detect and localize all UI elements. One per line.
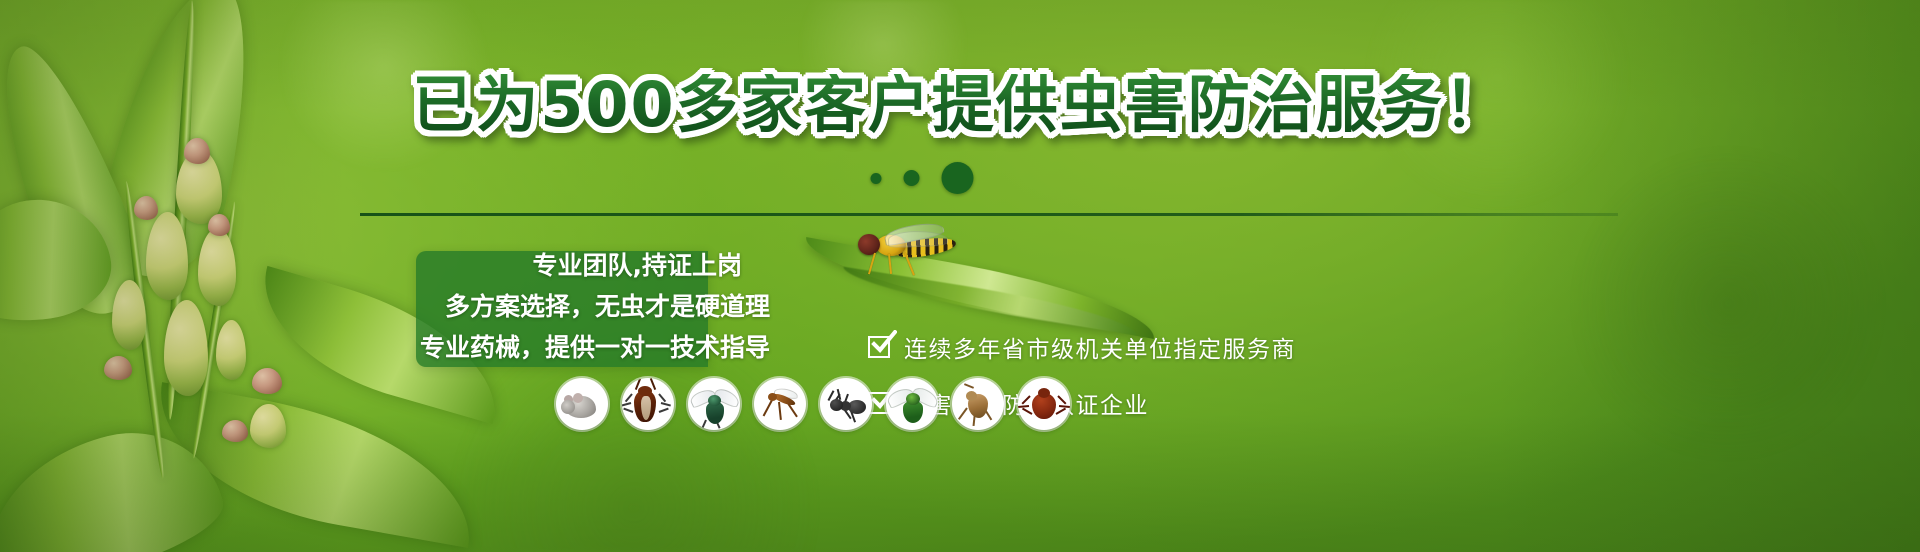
pest-control-banner: 已为500多家客户提供虫害防治服务！ 专业团队,持证上岗 多方案选择，无虫才是硬… — [0, 0, 1920, 552]
ant-icon[interactable] — [820, 378, 872, 430]
page-title: 已为500多家客户提供虫害防治服务！ — [0, 74, 1920, 136]
divider — [360, 213, 1618, 216]
mouse-icon[interactable] — [556, 378, 608, 430]
feature-label: 连续多年省市级机关单位指定服务商 — [904, 330, 1296, 364]
bedbug-icon[interactable] — [1018, 378, 1070, 430]
mosquito-icon[interactable] — [754, 378, 806, 430]
dot-small-icon — [871, 173, 882, 184]
slogan-line-1: 专业团队,持证上岗 — [533, 246, 771, 282]
cockroach-icon[interactable] — [622, 378, 674, 430]
housefly-icon[interactable] — [688, 378, 740, 430]
dot-medium-icon — [904, 170, 920, 186]
slogan-line-3: 专业药械，提供一对一技术指导 — [420, 328, 770, 364]
checkbox-checked-icon — [868, 336, 890, 358]
feature-item: 连续多年省市级机关单位指定服务商 — [868, 330, 1296, 364]
decorative-dots — [871, 162, 974, 194]
dot-large-icon — [942, 162, 974, 194]
blowfly-icon[interactable] — [886, 378, 938, 430]
pest-icon-row — [556, 378, 1070, 430]
flea-icon[interactable] — [952, 378, 1004, 430]
slogan-text-group: 专业团队,持证上岗 多方案选择，无虫才是硬道理 专业药械，提供一对一技术指导 — [340, 246, 770, 364]
slogan-line-2: 多方案选择，无虫才是硬道理 — [445, 287, 770, 323]
